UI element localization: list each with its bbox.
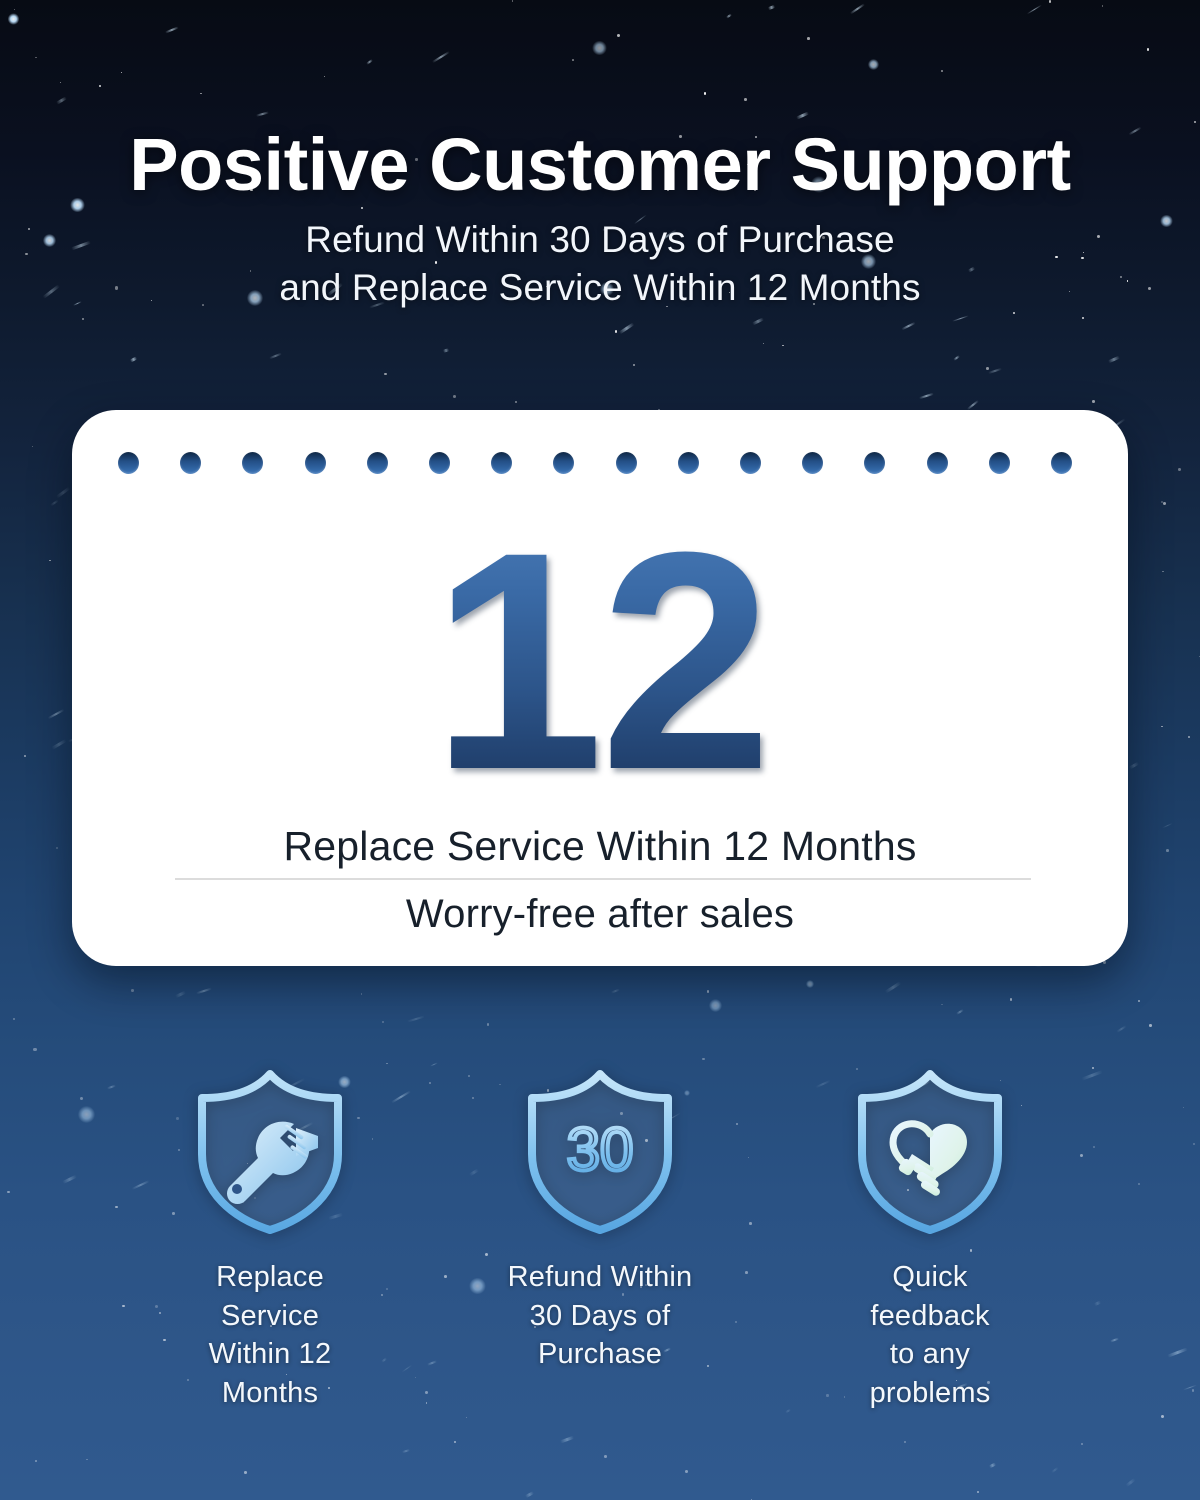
star-dot — [1010, 998, 1013, 1001]
star-streak — [175, 991, 186, 998]
star-glow — [709, 999, 722, 1012]
star-streak — [525, 1491, 535, 1498]
star-dot — [986, 367, 989, 370]
star-streak — [401, 1448, 410, 1452]
badge-caption: Replace Service Within 12 Months — [175, 1258, 365, 1412]
star-streak — [1051, 1467, 1059, 1474]
star-streak — [884, 981, 900, 993]
card-divider — [175, 878, 1031, 880]
calendar-hole — [367, 452, 388, 474]
star-dot — [1092, 400, 1095, 403]
star-dot — [1166, 849, 1169, 852]
star-dot — [1081, 1443, 1083, 1445]
star-streak — [611, 988, 621, 993]
star-dot — [1162, 571, 1164, 573]
star-streak — [269, 353, 281, 359]
star-dot — [82, 318, 84, 320]
star-streak — [50, 499, 58, 505]
star-dot — [35, 1460, 37, 1462]
star-streak — [130, 356, 137, 362]
star-streak — [953, 355, 960, 360]
star-dot — [382, 1021, 384, 1023]
calendar-hole — [429, 452, 450, 474]
shield-wrench-icon — [190, 1068, 350, 1236]
badge-caption-line-2: Within 12 Months — [175, 1335, 365, 1412]
star-glow — [806, 980, 814, 988]
subtitle-line-1: Refund Within 30 Days of Purchase — [305, 219, 894, 260]
card-headline: Replace Service Within 12 Months — [72, 823, 1128, 870]
page-title: Positive Customer Support — [0, 0, 1200, 202]
star-dot — [1082, 317, 1085, 320]
calendar-hole — [864, 452, 885, 474]
star-dot — [33, 1048, 36, 1051]
calendar-hole — [802, 452, 823, 474]
star-streak — [988, 1463, 995, 1468]
subtitle-line-2: and Replace Service Within 12 Months — [279, 267, 920, 308]
star-streak — [56, 486, 71, 498]
badge-row: Replace Service Within 12 Months 30 Refu… — [0, 1068, 1200, 1412]
star-dot — [904, 1441, 907, 1444]
star-streak — [967, 400, 979, 410]
calendar-hole — [180, 452, 201, 474]
star-dot — [941, 1004, 943, 1006]
star-dot — [1103, 961, 1105, 963]
star-dot — [1138, 1000, 1140, 1002]
star-dot — [244, 1471, 247, 1474]
calendar-hole — [740, 452, 761, 474]
star-dot — [1163, 502, 1166, 505]
badge-caption: Quick feedback to any problems — [835, 1258, 1025, 1412]
star-streak — [51, 739, 66, 749]
star-dot — [86, 1459, 87, 1460]
star-streak — [952, 315, 969, 322]
star-dot — [702, 1058, 705, 1061]
star-dot — [515, 401, 518, 404]
star-dot — [454, 1441, 456, 1443]
star-streak — [1117, 1025, 1127, 1033]
star-dot — [453, 395, 456, 398]
shield-30-days-icon: 30 — [520, 1068, 680, 1236]
star-dot — [49, 560, 51, 562]
star-dot — [604, 1455, 607, 1458]
star-streak — [1125, 1478, 1135, 1487]
star-dot — [32, 446, 33, 447]
star-dot — [1149, 1024, 1152, 1027]
star-streak — [431, 1062, 439, 1067]
star-streak — [196, 988, 212, 995]
promo-banner: Positive Customer Support Refund Within … — [0, 0, 1200, 1500]
star-streak — [619, 323, 634, 334]
star-streak — [443, 348, 450, 352]
star-dot — [782, 345, 784, 347]
star-streak — [407, 1016, 425, 1023]
star-dot — [361, 993, 362, 994]
calendar-hole — [242, 452, 263, 474]
badge-caption-line-2: to any problems — [835, 1335, 1025, 1412]
page-subtitle: Refund Within 30 Days of Purchase and Re… — [0, 202, 1200, 312]
star-streak — [1162, 822, 1173, 828]
badge-caption-line-1: Replace Service — [175, 1258, 365, 1335]
badge-caption-line-1: Refund Within — [505, 1258, 695, 1297]
badge-caption: Refund Within 30 Days of Purchase — [505, 1258, 695, 1374]
star-streak — [901, 322, 916, 331]
star-dot — [1188, 736, 1190, 738]
star-dot — [384, 373, 386, 375]
star-streak — [560, 1435, 574, 1442]
star-dot — [1161, 726, 1163, 728]
badge-refund-30-days: 30 Refund Within 30 Days of Purchase — [505, 1068, 695, 1412]
star-streak — [48, 708, 65, 718]
star-dot — [466, 1417, 467, 1418]
star-dot — [1178, 468, 1181, 471]
star-dot — [633, 364, 635, 366]
calendar-hole — [118, 452, 139, 474]
star-dot — [763, 343, 764, 344]
star-dot — [615, 330, 618, 333]
star-dot — [13, 1018, 15, 1020]
star-streak — [1108, 356, 1120, 363]
star-dot — [24, 755, 26, 757]
warranty-card: 12 Replace Service Within 12 Months Worr… — [72, 410, 1128, 966]
calendar-hole — [989, 452, 1010, 474]
star-dot — [386, 1063, 388, 1065]
badge-quick-feedback: Quick feedback to any problems — [835, 1068, 1025, 1412]
badge-caption-line-2: 30 Days of Purchase — [505, 1297, 695, 1374]
card-subline: Worry-free after sales — [72, 892, 1128, 937]
star-dot — [977, 1491, 979, 1493]
calendar-hole — [305, 452, 326, 474]
star-streak — [956, 1009, 963, 1015]
star-dot — [487, 1023, 490, 1026]
calendar-hole — [927, 452, 948, 474]
badge-inner-number: 30 — [567, 1116, 634, 1183]
star-streak — [752, 318, 764, 325]
calendar-hole — [678, 452, 699, 474]
star-dot — [1013, 312, 1015, 314]
calendar-hole — [491, 452, 512, 474]
badge-caption-line-1: Quick feedback — [835, 1258, 1025, 1335]
star-dot — [131, 989, 134, 992]
calendar-binding-holes — [72, 452, 1128, 478]
star-dot — [1161, 1415, 1164, 1418]
star-dot — [56, 847, 59, 850]
star-dot — [707, 990, 709, 992]
calendar-hole — [553, 452, 574, 474]
shield-handshake-heart-icon — [850, 1068, 1010, 1236]
badge-replace-service: Replace Service Within 12 Months — [175, 1068, 365, 1412]
calendar-hole — [1051, 452, 1072, 474]
calendar-hole — [616, 452, 637, 474]
header: Positive Customer Support Refund Within … — [0, 0, 1200, 312]
star-streak — [988, 368, 1001, 374]
star-dot — [1161, 501, 1163, 503]
star-streak — [919, 393, 934, 400]
star-dot — [685, 1470, 688, 1473]
star-streak — [1129, 761, 1139, 768]
big-number: 12 — [72, 506, 1128, 816]
